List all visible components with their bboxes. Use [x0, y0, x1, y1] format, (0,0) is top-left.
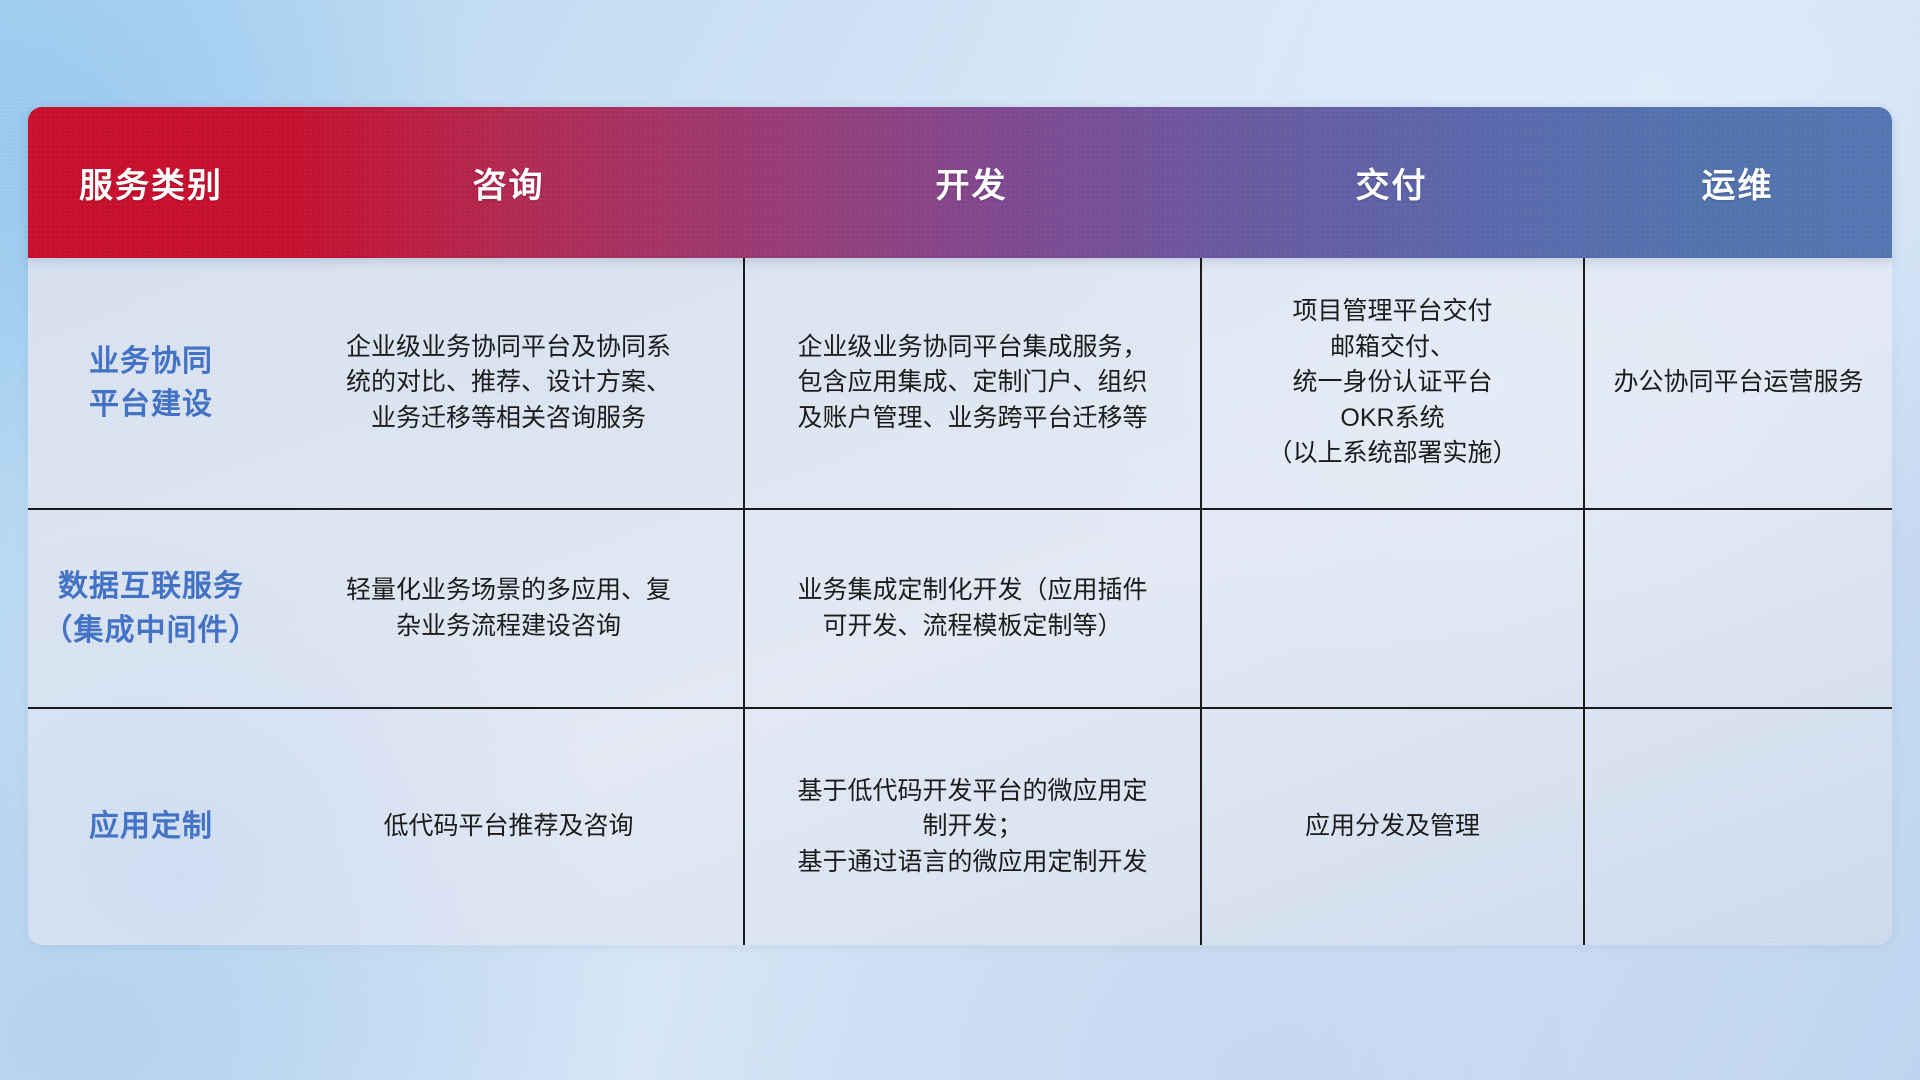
cell-row1-consulting: 企业级业务协同平台及协同系 统的对比、推荐、设计方案、 业务迁移等相关咨询服务 — [274, 258, 743, 508]
table-row: 应用定制 低代码平台推荐及咨询 基于低代码开发平台的微应用定 制开发； 基于通过… — [28, 709, 1892, 945]
service-matrix-table: 服务类别 咨询 开发 交付 运维 业务协同 平台建设 企业级业务协同平台及协同系… — [28, 107, 1892, 945]
table-header-row: 服务类别 咨询 开发 交付 运维 — [28, 107, 1892, 258]
table-row: 数据互联服务 （集成中间件） 轻量化业务场景的多应用、复 杂业务流程建设咨询 业… — [28, 510, 1892, 709]
table-row: 业务协同 平台建设 企业级业务协同平台及协同系 统的对比、推荐、设计方案、 业务… — [28, 258, 1892, 510]
cell-row1-delivery: 项目管理平台交付 邮箱交付、 统一身份认证平台 OKR系统 （以上系统部署实施） — [1200, 258, 1583, 508]
cell-row3-development: 基于低代码开发平台的微应用定 制开发； 基于通过语言的微应用定制开发 — [743, 709, 1200, 945]
cell-row3-delivery: 应用分发及管理 — [1200, 709, 1583, 945]
cell-row1-operations: 办公协同平台运营服务 — [1583, 258, 1892, 508]
cell-row3-consulting: 低代码平台推荐及咨询 — [274, 709, 743, 945]
column-header-consulting: 咨询 — [274, 158, 743, 207]
table-body: 业务协同 平台建设 企业级业务协同平台及协同系 统的对比、推荐、设计方案、 业务… — [28, 258, 1892, 945]
column-header-category: 服务类别 — [28, 158, 274, 207]
column-header-development: 开发 — [743, 158, 1200, 207]
column-header-delivery: 交付 — [1200, 158, 1583, 207]
cell-row2-consulting: 轻量化业务场景的多应用、复 杂业务流程建设咨询 — [274, 510, 743, 707]
column-header-operations: 运维 — [1583, 158, 1892, 207]
cell-row2-development: 业务集成定制化开发（应用插件 可开发、流程模板定制等） — [743, 510, 1200, 707]
cell-row3-operations — [1583, 709, 1892, 945]
row-label-data-interconnection: 数据互联服务 （集成中间件） — [28, 510, 274, 707]
row-label-application-customization: 应用定制 — [28, 709, 274, 945]
cell-row2-operations — [1583, 510, 1892, 707]
row-label-business-collaboration: 业务协同 平台建设 — [28, 258, 274, 508]
cell-row1-development: 企业级业务协同平台集成服务， 包含应用集成、定制门户、组织 及账户管理、业务跨平… — [743, 258, 1200, 508]
cell-row2-delivery — [1200, 510, 1583, 707]
